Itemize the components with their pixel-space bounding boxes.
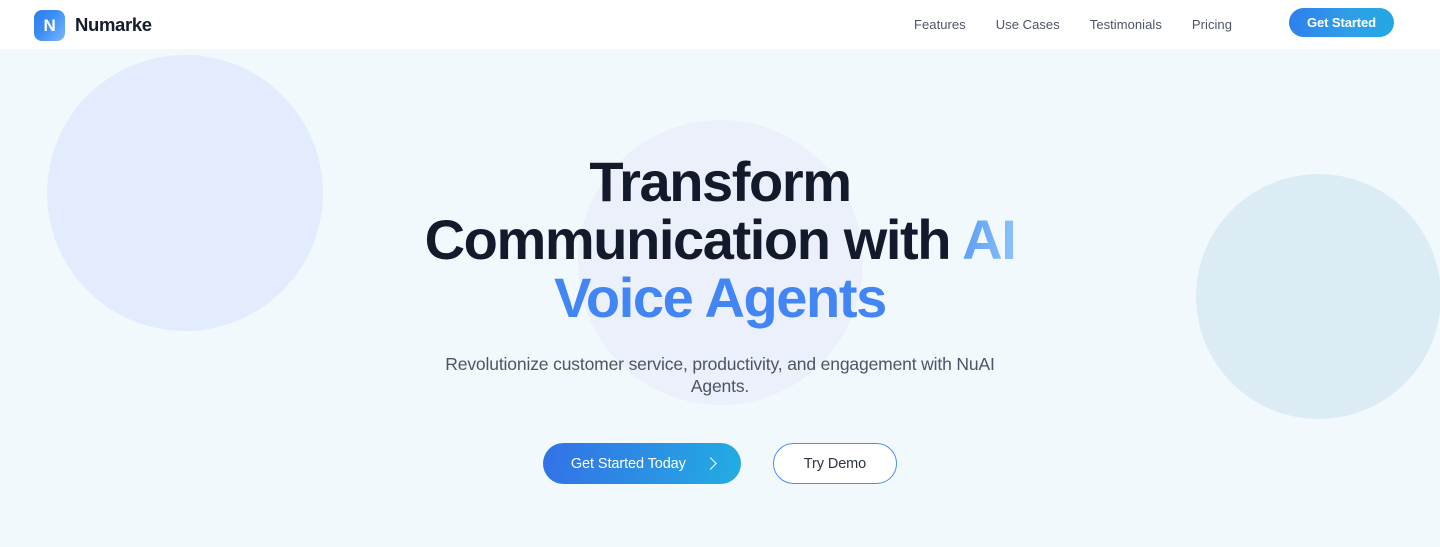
main-navigation: Features Use Cases Testimonials Pricing <box>899 0 1247 49</box>
get-started-today-label: Get Started Today <box>571 456 686 472</box>
headline-accent-ai: AI <box>962 208 1015 271</box>
header-get-started-button[interactable]: Get Started <box>1289 8 1394 37</box>
get-started-today-button[interactable]: Get Started Today <box>543 443 741 484</box>
nav-link-testimonials[interactable]: Testimonials <box>1075 11 1177 38</box>
headline-accent-voice-agents: Voice Agents <box>554 266 886 329</box>
chevron-right-icon <box>704 457 717 470</box>
landing-page: N Numarke Features Use Cases Testimonial… <box>0 0 1440 547</box>
headline-line-1: Transform <box>589 150 850 213</box>
nav-link-pricing[interactable]: Pricing <box>1177 11 1247 38</box>
logo-letter: N <box>44 17 56 34</box>
numarke-logo-icon: N <box>34 10 65 41</box>
hero-section: Transform Communication with AI Voice Ag… <box>0 49 1440 547</box>
nav-link-features[interactable]: Features <box>899 11 981 38</box>
site-header: N Numarke Features Use Cases Testimonial… <box>0 0 1440 49</box>
brand-name: Numarke <box>75 14 152 36</box>
hero-subheadline: Revolutionize customer service, producti… <box>420 327 1020 397</box>
hero-content: Transform Communication with AI Voice Ag… <box>0 49 1440 484</box>
brand-logo[interactable]: N Numarke <box>34 9 152 41</box>
hero-cta-row: Get Started Today Try Demo <box>0 397 1440 484</box>
nav-link-use-cases[interactable]: Use Cases <box>981 11 1075 38</box>
headline-line-2-prefix: Communication with <box>425 208 963 271</box>
try-demo-button[interactable]: Try Demo <box>773 443 897 484</box>
hero-headline: Transform Communication with AI Voice Ag… <box>0 49 1440 327</box>
